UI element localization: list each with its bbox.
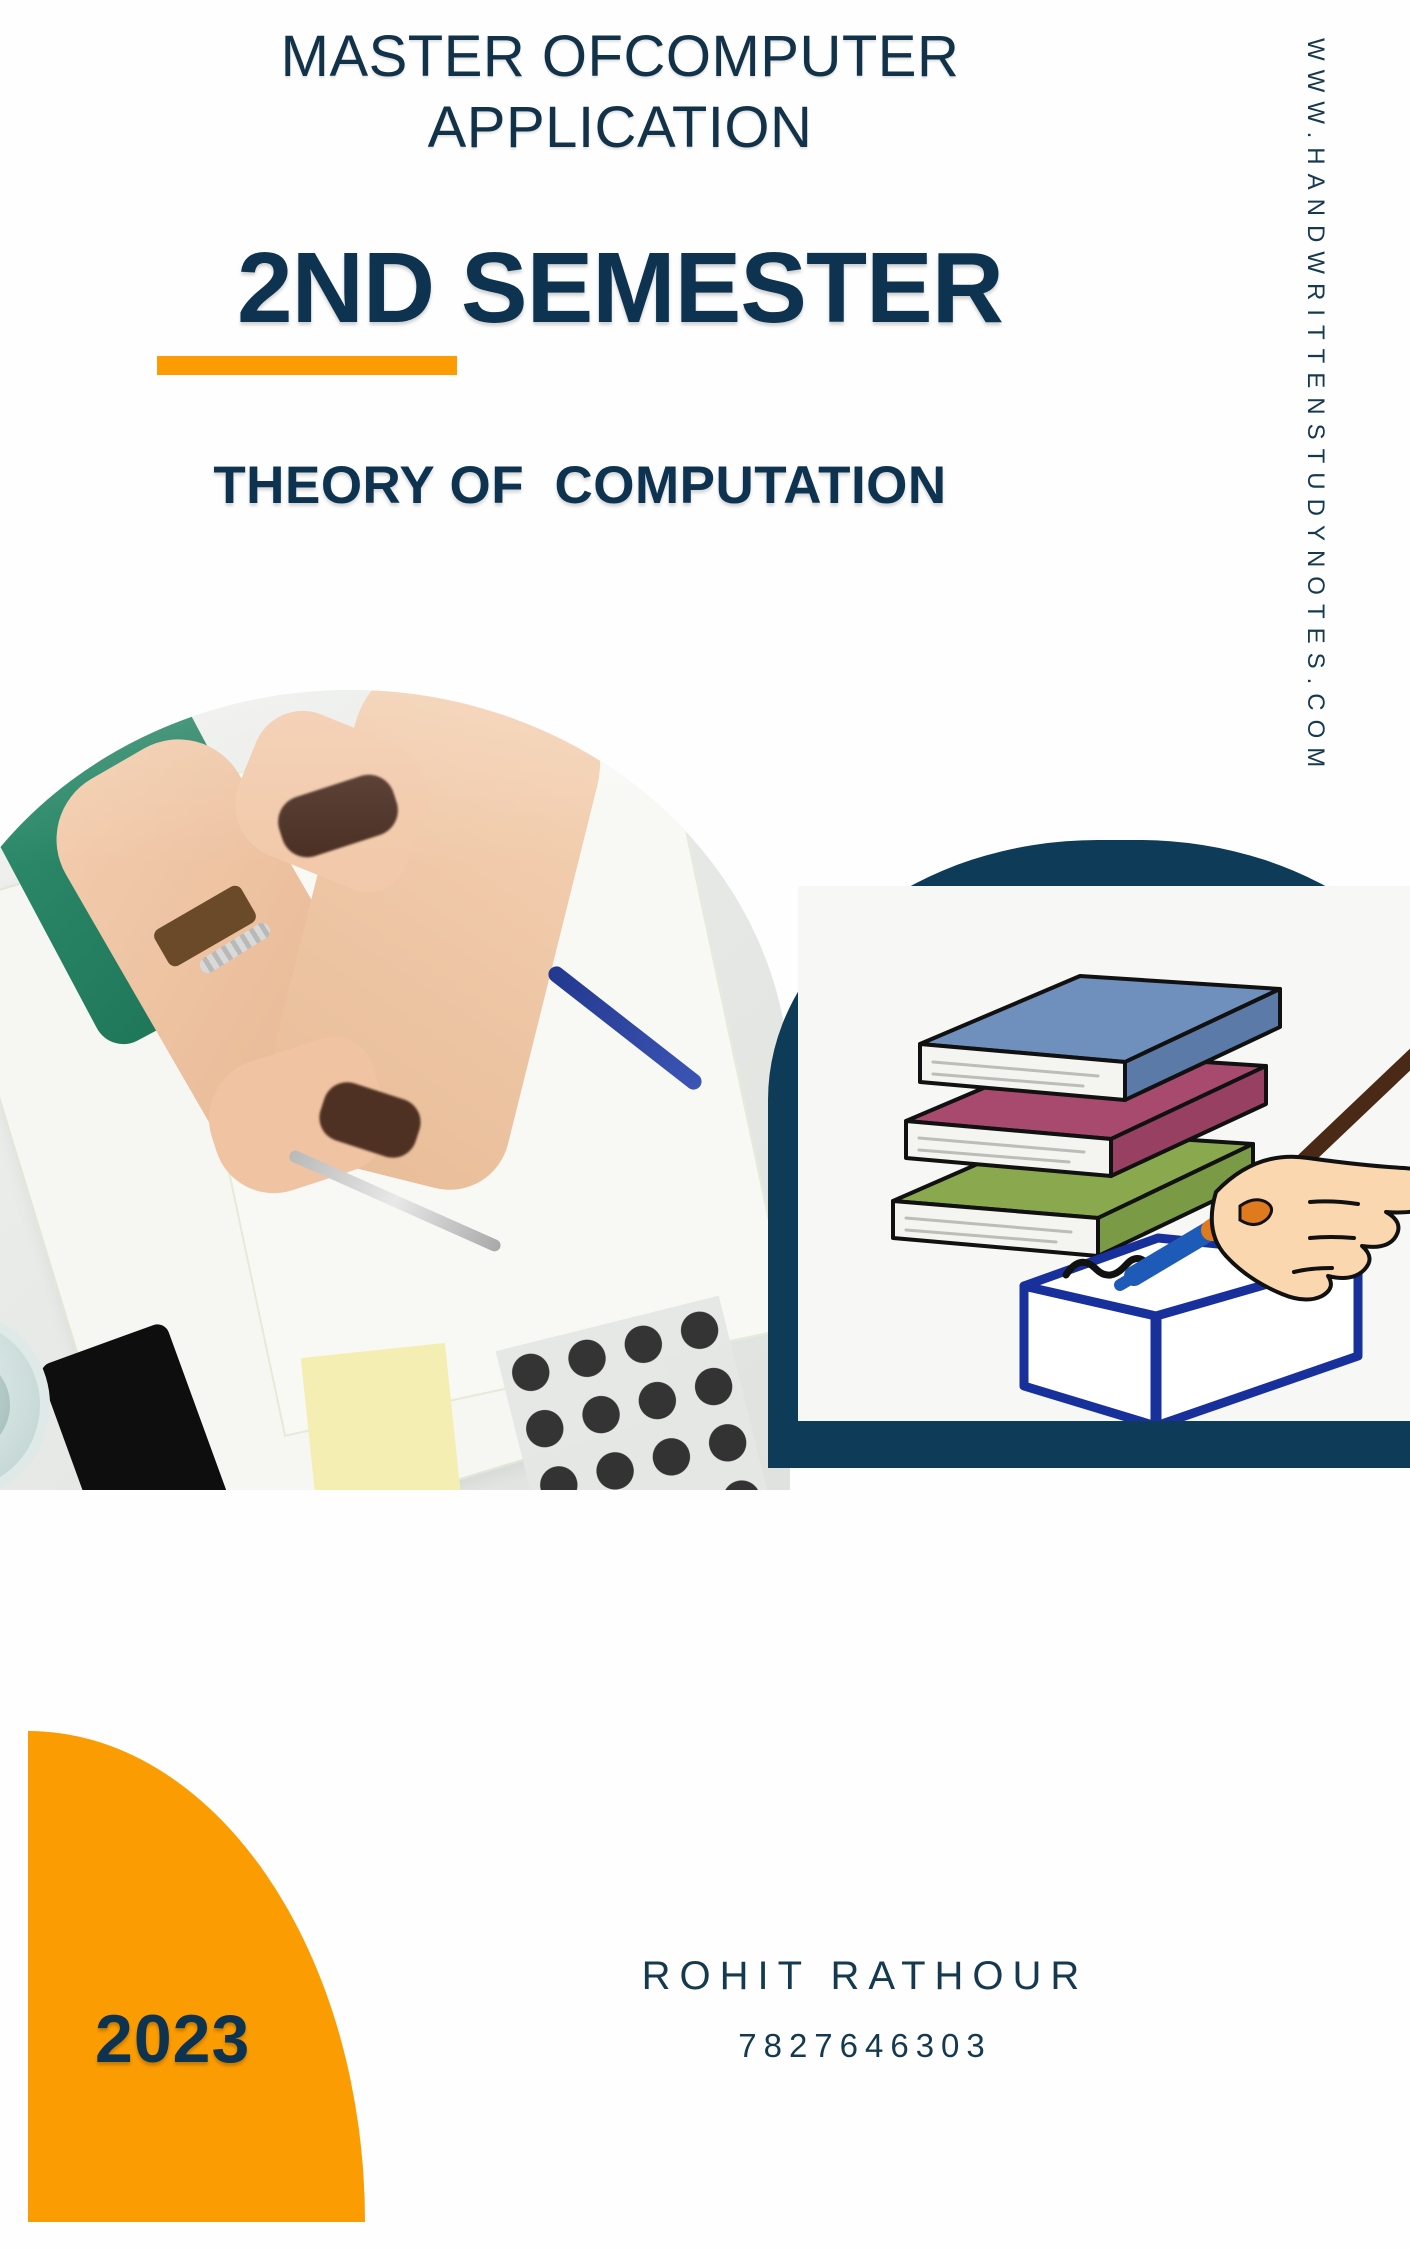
website-url: WWW.HANDWRITTENSTUDYNOTES.COM <box>1301 38 1329 776</box>
course-title-line-2: APPLICATION <box>130 93 1110 164</box>
semester-title: 2ND SEMESTER <box>120 238 1120 338</box>
year-quarter-circle <box>28 1731 365 2222</box>
cover-photo <box>0 690 790 1490</box>
books-writing-illustration <box>798 886 1410 1421</box>
author-name: ROHIT RATHOUR <box>470 1954 1260 1999</box>
cover-photo-content <box>0 690 790 1490</box>
sticky-note <box>301 1343 465 1490</box>
author-phone: 7827646303 <box>470 2027 1260 2065</box>
semester-underline-accent <box>157 356 457 375</box>
subject-title: THEORY OF COMPUTATION <box>80 455 1080 516</box>
clipart-card <box>798 886 1410 1421</box>
course-title-line-1: MASTER OFCOMPUTER <box>130 22 1110 93</box>
year-label: 2023 <box>95 2000 250 2078</box>
course-title: MASTER OFCOMPUTER APPLICATION <box>130 22 1110 164</box>
